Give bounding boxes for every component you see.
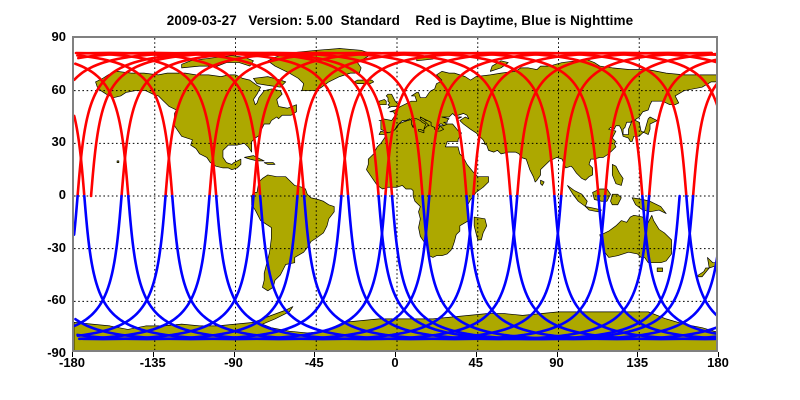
x-tick-label: 45 xyxy=(469,356,483,369)
x-tick-label: -45 xyxy=(305,356,324,369)
land-polygon xyxy=(593,189,611,201)
x-tick-mark xyxy=(476,352,477,357)
x-tick-mark xyxy=(637,352,638,357)
orbit-ground-track-figure: 2009-03-27 Version: 5.00 Standard Red is… xyxy=(0,0,800,400)
x-tick-label: -135 xyxy=(140,356,166,369)
plot-area xyxy=(72,36,718,352)
y-tick-label: -60 xyxy=(47,293,66,306)
x-tick-label: 135 xyxy=(626,356,648,369)
land-polygon xyxy=(657,268,662,272)
x-tick-label: 180 xyxy=(707,356,729,369)
plot-frame xyxy=(72,36,718,352)
x-tick-mark xyxy=(718,352,719,357)
x-tick-mark xyxy=(314,352,315,357)
y-tick-label: 30 xyxy=(52,135,66,148)
y-tick-label: -30 xyxy=(47,241,66,254)
x-tick-label: -90 xyxy=(224,356,243,369)
y-tick-label: 0 xyxy=(59,188,66,201)
x-tick-mark xyxy=(72,352,73,357)
y-tick-label: 60 xyxy=(52,83,66,96)
land-polygon xyxy=(117,161,119,163)
x-tick-mark xyxy=(395,352,396,357)
page-title: 2009-03-27 Version: 5.00 Standard Red is… xyxy=(0,13,800,28)
x-tick-mark xyxy=(557,352,558,357)
y-tick-label: 90 xyxy=(52,30,66,43)
x-tick-label: 0 xyxy=(391,356,398,369)
x-tick-mark xyxy=(153,352,154,357)
x-tick-label: -180 xyxy=(59,356,85,369)
land-polygon xyxy=(354,80,374,84)
x-tick-label: 90 xyxy=(549,356,563,369)
world-map-with-ground-tracks xyxy=(74,38,718,352)
x-tick-mark xyxy=(234,352,235,357)
